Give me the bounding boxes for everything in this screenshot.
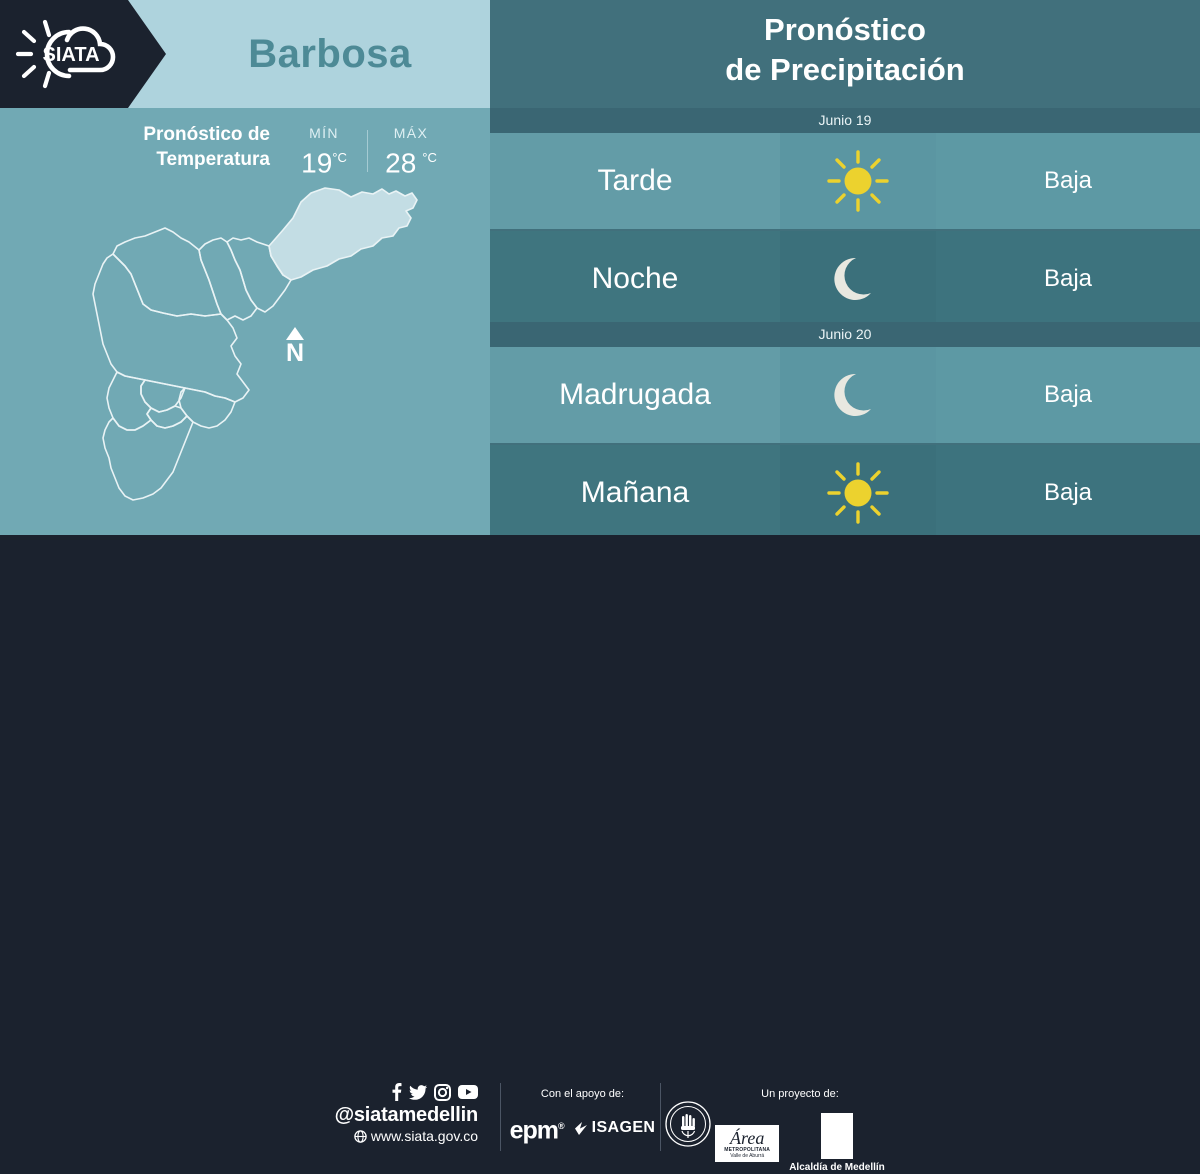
temperature-title-line2: Temperatura: [156, 149, 270, 170]
temperature-title: Pronóstico de Temperatura: [60, 122, 270, 172]
map-region-la-estrella: [107, 372, 151, 430]
probability-label: Baja: [1044, 381, 1092, 409]
alcaldia-crest-icon: [821, 1113, 853, 1159]
probability-label: Baja: [1044, 167, 1092, 195]
min-unit: °C: [332, 150, 347, 165]
date-band-june-19: Junio 19: [490, 108, 1200, 133]
isagen-logo: ISAGEN: [574, 1119, 656, 1137]
table-row[interactable]: Noche Baja: [490, 231, 1200, 327]
map-region-medellin: [93, 254, 249, 402]
min-max-group: MÍN 19°C MÁX 28°C: [285, 124, 450, 179]
map-region-sabaneta: [147, 406, 187, 428]
min-temperature: MÍN 19°C: [285, 124, 363, 179]
period-label: Noche: [592, 262, 679, 296]
max-value-wrap: 28°C: [372, 142, 450, 179]
probability-cell: Baja: [936, 133, 1200, 229]
date-band-june-20: Junio 20: [490, 322, 1200, 347]
min-label: MÍN: [285, 124, 363, 142]
weather-icon-cell: [780, 231, 936, 327]
precipitation-title-line1: Pronóstico: [490, 10, 1200, 50]
support-logos: epm® ISAGEN: [505, 1113, 660, 1143]
footer: @siatamedellin www.siata.gov.co Con el a…: [0, 535, 1200, 630]
map-region-copacabana: [199, 238, 257, 320]
support-block: Con el apoyo de: epm® ISAGEN: [505, 1087, 660, 1143]
sun-cloud-icon: SIATA: [14, 17, 132, 91]
table-row[interactable]: Mañana Ba: [490, 445, 1200, 541]
youtube-icon[interactable]: [458, 1085, 478, 1099]
project-caption: Un proyecto de:: [700, 1087, 900, 1101]
page-title: Barbosa: [170, 0, 490, 108]
social-handle[interactable]: @siatamedellin: [330, 1103, 478, 1127]
precipitation-title-line2: de Precipitación: [490, 50, 1200, 90]
period-label: Madrugada: [559, 378, 711, 412]
project-logos: Área METROPOLITANA Valle de Aburrá Alcal…: [700, 1113, 900, 1174]
max-value: 28: [385, 147, 416, 178]
isagen-mark-icon: [574, 1121, 589, 1136]
period-cell: Noche: [490, 231, 780, 327]
map-svg: [55, 180, 455, 535]
project-block: Un proyecto de: Área METROPOLITANA Valle…: [700, 1087, 900, 1174]
support-caption: Con el apoyo de:: [505, 1087, 660, 1101]
area-script-name: Área: [718, 1129, 776, 1147]
website-row[interactable]: www.siata.gov.co: [330, 1127, 478, 1145]
max-temperature: MÁX 28°C: [372, 124, 450, 179]
footer-divider-1: [500, 1083, 501, 1151]
sun-icon: [825, 148, 891, 214]
social-icon-row: [330, 1083, 478, 1101]
min-value-wrap: 19°C: [285, 142, 363, 179]
alcaldia-name: Alcaldía de Medellín: [789, 1162, 885, 1174]
weather-icon-cell: [780, 347, 936, 443]
precipitation-title: Pronóstico de Precipitación: [490, 10, 1200, 90]
max-unit: °C: [422, 150, 437, 165]
temperature-block: Pronóstico de Temperatura MÍN 19°C MÁX 2…: [60, 122, 460, 184]
map-region-caldas: [103, 416, 193, 500]
left-panel: Barbosa SIATA Pronóstico de Temperatura: [0, 0, 490, 535]
period-cell: Mañana: [490, 445, 780, 541]
precipitation-panel: Pronóstico de Precipitación Junio 19 Tar…: [490, 0, 1200, 535]
map-region-barbosa: [269, 188, 417, 280]
epm-logo: epm®: [510, 1113, 564, 1143]
probability-cell: Baja: [936, 347, 1200, 443]
table-row[interactable]: Madrugada Baja: [490, 347, 1200, 443]
moon-icon: [829, 250, 887, 308]
area-subtitle-2: Valle de Aburrá: [718, 1153, 776, 1159]
period-label: Tarde: [597, 164, 672, 198]
max-label: MÁX: [372, 124, 450, 142]
valle-de-aburra-map: [55, 180, 455, 535]
map-region-envigado: [179, 388, 235, 428]
social-block: @siatamedellin www.siata.gov.co: [330, 1083, 478, 1145]
table-row[interactable]: Tarde Baj: [490, 133, 1200, 229]
min-value: 19: [301, 147, 332, 178]
temperature-title-line1: Pronóstico de: [143, 124, 270, 145]
facebook-icon[interactable]: [391, 1083, 402, 1101]
compass-label: N: [277, 341, 313, 366]
twitter-icon[interactable]: [409, 1085, 427, 1100]
probability-label: Baja: [1044, 479, 1092, 507]
area-metropolitana-logo: Área METROPOLITANA Valle de Aburrá: [715, 1125, 779, 1162]
footer-divider-2: [660, 1083, 661, 1151]
compass-north-indicator: N: [277, 327, 313, 366]
period-cell: Tarde: [490, 133, 780, 229]
weather-icon-cell: [780, 445, 936, 541]
sun-icon: [825, 460, 891, 526]
probability-cell: Baja: [936, 445, 1200, 541]
probability-cell: Baja: [936, 231, 1200, 327]
weather-icon-cell: [780, 133, 936, 229]
logo-wordmark: SIATA: [42, 44, 99, 66]
probability-label: Baja: [1044, 265, 1092, 293]
period-label: Mañana: [581, 476, 689, 510]
period-cell: Madrugada: [490, 347, 780, 443]
globe-icon: [354, 1130, 367, 1143]
website-url: www.siata.gov.co: [371, 1127, 478, 1145]
moon-icon: [829, 366, 887, 424]
min-max-divider: [367, 130, 368, 172]
infographic-root: Barbosa SIATA Pronóstico de Temperatura: [0, 0, 1200, 630]
alcaldia-logo: Alcaldía de Medellín: [789, 1113, 885, 1174]
instagram-icon[interactable]: [434, 1084, 451, 1101]
isagen-wordmark: ISAGEN: [592, 1119, 656, 1137]
